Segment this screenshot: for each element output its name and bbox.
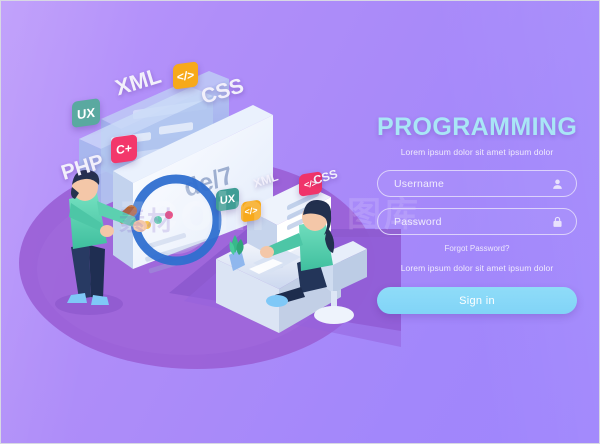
password-placeholder: Password (378, 216, 442, 228)
ux-chip-2-label: UX (220, 192, 235, 206)
login-illustration-page: de/7 (0, 0, 600, 444)
page-subtitle: Lorem ipsum dolor sit amet ipsum dolor (377, 147, 577, 157)
code-chip: </> (173, 61, 198, 90)
user-icon (551, 177, 564, 190)
forgot-password-link[interactable]: Forgot Password? (377, 244, 577, 253)
password-field[interactable]: Password (377, 208, 577, 235)
page-title: PROGRAMMING (377, 113, 577, 142)
ux-chip-2: UX (216, 187, 239, 212)
ux-chip: UX (72, 98, 100, 128)
lock-icon (551, 215, 564, 228)
code-chip-2-label: </> (244, 205, 257, 217)
cpp-chip-label: C+ (116, 141, 132, 157)
sign-in-button[interactable]: Sign in (377, 287, 577, 314)
username-placeholder: Username (378, 178, 444, 190)
panel-note: Lorem ipsum dolor sit amet ipsum dolor (377, 263, 577, 273)
isometric-illustration: de/7 (1, 1, 401, 444)
username-field[interactable]: Username (377, 170, 577, 197)
login-panel: PROGRAMMING Lorem ipsum dolor sit amet i… (377, 113, 577, 314)
code-chip-label: </> (177, 67, 194, 83)
ux-chip-label: UX (77, 104, 95, 122)
code-chip-2: </> (241, 199, 261, 222)
cpp-chip: C+ (111, 134, 137, 164)
